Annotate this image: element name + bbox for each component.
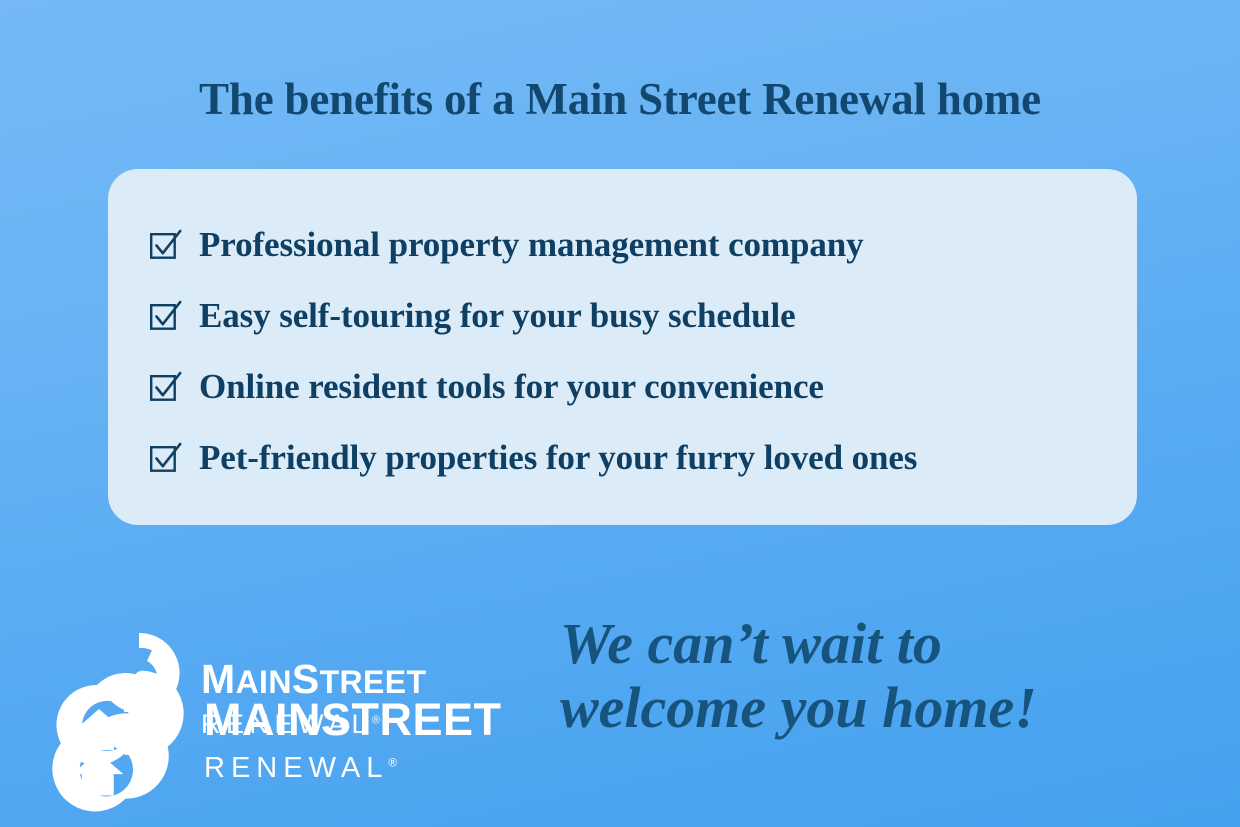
logo-wordmark-line-1: MAINSTREET (204, 697, 502, 742)
ballot-box-with-check-icon (148, 227, 182, 261)
mainstreet-renewal-swirl-icon (38, 660, 198, 820)
ballot-box-with-check-icon (148, 298, 182, 332)
ballot-box-with-check-icon (148, 440, 182, 474)
list-item-label: Professional property management company (199, 225, 864, 265)
ballot-box-with-check-icon (148, 369, 182, 403)
list-item: Professional property management company (148, 209, 1117, 280)
list-item-label: Pet-friendly properties for your furry l… (199, 438, 917, 478)
list-item: Online resident tools for your convenien… (148, 351, 1117, 422)
list-item: Easy self-touring for your busy schedule (148, 280, 1117, 351)
logo-wordmark-line-2: RENEWAL® (204, 754, 502, 783)
list-item: Pet-friendly properties for your furry l… (148, 422, 1117, 493)
page-title: The benefits of a Main Street Renewal ho… (0, 73, 1240, 125)
tagline-line-1: We can’t wait to (560, 612, 1200, 676)
benefits-card: Professional property management company… (108, 169, 1137, 525)
list-item-label: Online resident tools for your convenien… (199, 367, 824, 407)
benefits-list: Professional property management company… (148, 209, 1117, 493)
tagline: We can’t wait to welcome you home! (560, 612, 1200, 740)
logo-mainstreet-renewal-secondary: MAINSTREET RENEWAL® (38, 660, 502, 820)
logo-wordmark: MAINSTREET RENEWAL® (204, 697, 502, 783)
promo-poster: The benefits of a Main Street Renewal ho… (0, 0, 1240, 827)
tagline-line-2: welcome you home! (560, 676, 1200, 740)
list-item-label: Easy self-touring for your busy schedule (199, 296, 796, 336)
